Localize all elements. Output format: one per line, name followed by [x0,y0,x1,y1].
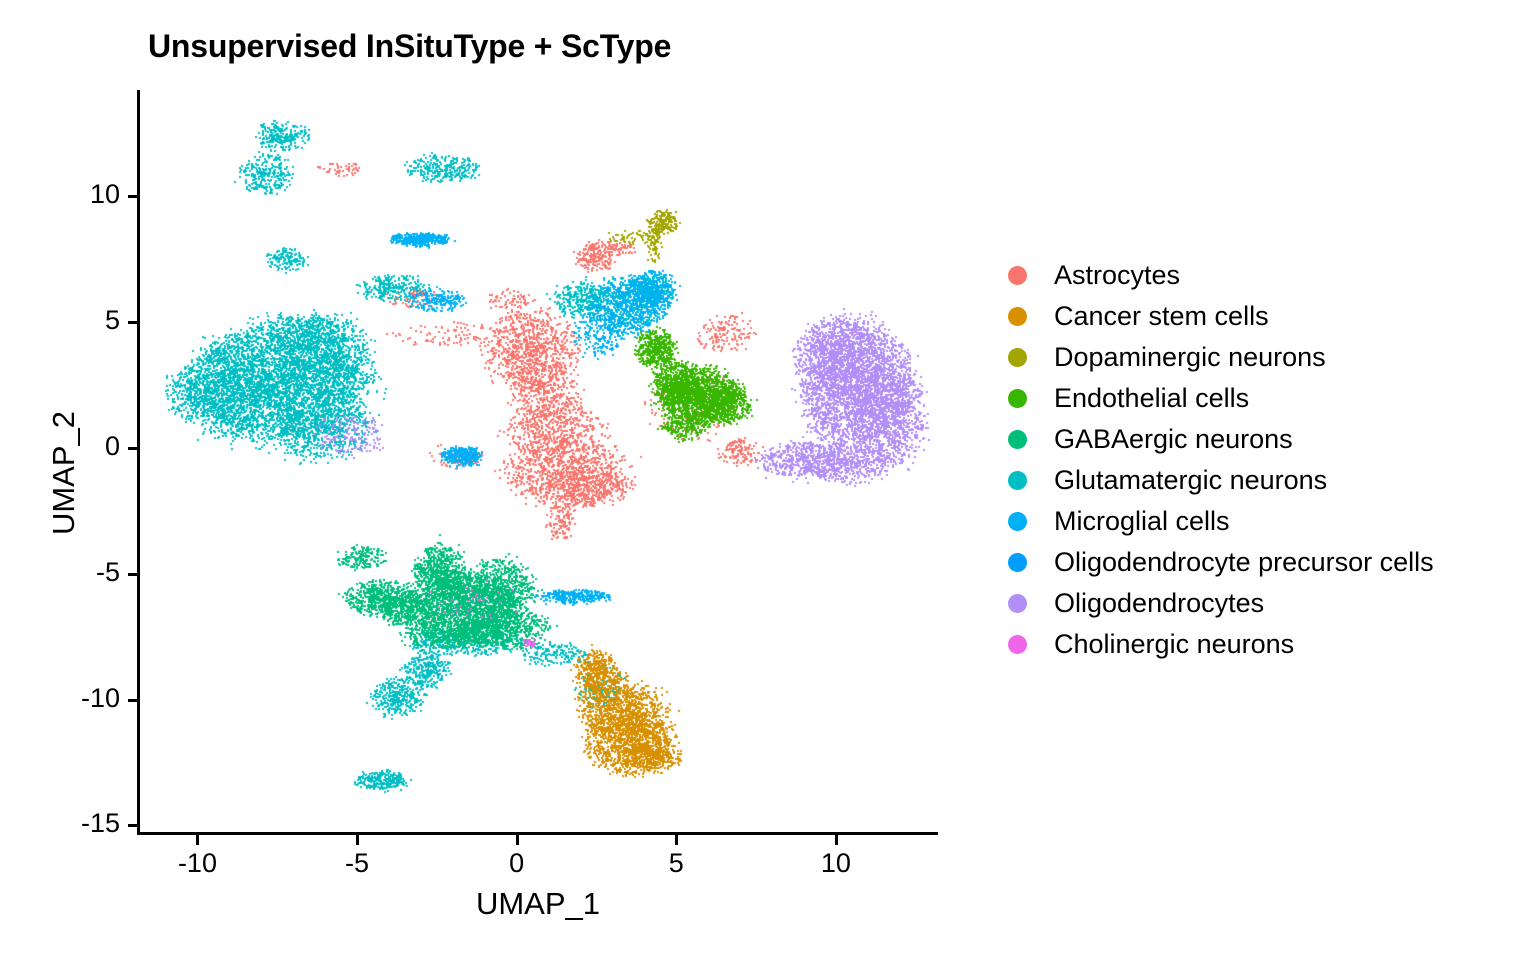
y-tick-mark [128,573,138,576]
legend-key [1000,389,1034,408]
x-tick-mark [356,835,359,845]
y-tick-mark [128,824,138,827]
legend-item-label: Endothelial cells [1034,383,1249,414]
legend-item-endothelial-cells[interactable]: Endothelial cells [1000,378,1520,419]
legend-item-oligodendrocytes[interactable]: Oligodendrocytes [1000,583,1520,624]
legend-item-label: Oligodendrocyte precursor cells [1034,547,1434,578]
legend-item-label: Cholinergic neurons [1034,629,1294,660]
scatter-plot-canvas [140,90,938,833]
legend-key [1000,553,1034,572]
legend-key [1000,594,1034,613]
legend-key [1000,307,1034,326]
legend-dot-icon [1008,594,1027,613]
legend-item-gabaergic-neurons[interactable]: GABAergic neurons [1000,419,1520,460]
legend-item-label: Dopaminergic neurons [1034,342,1326,373]
legend-dot-icon [1008,471,1027,490]
x-tick-label: 5 [636,848,716,879]
legend-key [1000,512,1034,531]
legend-item-cancer-stem-cells[interactable]: Cancer stem cells [1000,296,1520,337]
legend-item-oligodendrocyte-precursor-cells[interactable]: Oligodendrocyte precursor cells [1000,542,1520,583]
x-tick-label: 10 [796,848,876,879]
plot-panel [140,90,938,833]
x-tick-mark [516,835,519,845]
page-title: Unsupervised InSituType + ScType [148,28,671,65]
legend-dot-icon [1008,348,1027,367]
legend-item-label: Cancer stem cells [1034,301,1269,332]
y-axis-line [137,90,140,835]
legend-item-label: Glutamatergic neurons [1034,465,1327,496]
legend-dot-icon [1008,430,1027,449]
y-tick-mark [128,699,138,702]
x-tick-mark [675,835,678,845]
x-axis-line [137,832,938,835]
legend-dot-icon [1008,512,1027,531]
legend-key [1000,266,1034,285]
legend-key [1000,430,1034,449]
x-axis-title: UMAP_1 [138,886,938,922]
legend-dot-icon [1008,266,1027,285]
y-tick-mark [128,447,138,450]
legend-dot-icon [1008,635,1027,654]
legend-item-label: Astrocytes [1034,260,1180,291]
legend-dot-icon [1008,307,1027,326]
y-axis-title: UMAP_2 [46,73,82,873]
x-tick-mark [835,835,838,845]
x-tick-label: -5 [317,848,397,879]
y-tick-mark [128,195,138,198]
legend-key [1000,471,1034,490]
legend-item-dopaminergic-neurons[interactable]: Dopaminergic neurons [1000,337,1520,378]
legend-dot-icon [1008,553,1027,572]
x-tick-mark [196,835,199,845]
legend: AstrocytesCancer stem cellsDopaminergic … [1000,255,1520,665]
legend-item-microglial-cells[interactable]: Microglial cells [1000,501,1520,542]
legend-item-label: Microglial cells [1034,506,1230,537]
legend-item-label: GABAergic neurons [1034,424,1293,455]
legend-key [1000,348,1034,367]
legend-item-label: Oligodendrocytes [1034,588,1264,619]
legend-item-astrocytes[interactable]: Astrocytes [1000,255,1520,296]
legend-dot-icon [1008,389,1027,408]
x-tick-label: 0 [477,848,557,879]
umap-figure: Unsupervised InSituType + ScType 1050-5-… [0,0,1536,960]
legend-item-glutamatergic-neurons[interactable]: Glutamatergic neurons [1000,460,1520,501]
legend-item-cholinergic-neurons[interactable]: Cholinergic neurons [1000,624,1520,665]
legend-key [1000,635,1034,654]
x-tick-label: -10 [157,848,237,879]
y-tick-mark [128,321,138,324]
